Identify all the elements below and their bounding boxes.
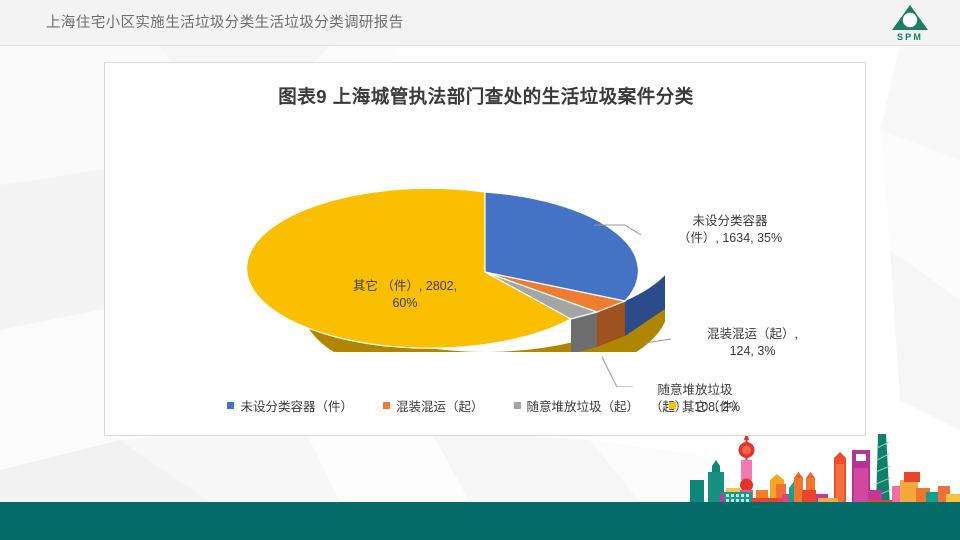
data-label-uncontainered: 未设分类容器 （件）, 1634, 35% [650,213,810,247]
chart-title: 图表9 上海城管执法部门查处的生活垃圾案件分类 [105,83,867,109]
legend-item-uncontainered[interactable]: 未设分类容器（件） [227,396,353,415]
logo-wordmark: SPM [882,32,938,42]
legend-swatch-mixed [383,402,390,409]
legend-swatch-uncontainered [227,402,234,409]
spm-triangle-icon [891,4,929,31]
legend-label-other: 其它（件） [682,396,745,415]
pie-chart: 未设分类容器 （件）, 1634, 35% 混装混运（起）, 124, 3% 随… [105,117,867,387]
legend-label-uncontainered: 未设分类容器（件） [240,396,353,415]
shanghai-skyline-illustration [690,428,960,506]
legend-label-dumping: 随意堆放垃圾（起） [527,396,640,415]
legend-swatch-other [669,402,676,409]
legend-item-dumping[interactable]: 随意堆放垃圾（起） [514,396,640,415]
legend-item-mixed[interactable]: 混装混运（起） [383,396,484,415]
chart-panel: 图表9 上海城管执法部门查处的生活垃圾案件分类 [104,62,866,436]
data-label-other: 其它 （件）, 2802, 60% [310,278,500,312]
chart-legend: 未设分类容器（件） 混装混运（起） 随意堆放垃圾（起） 其它（件） [105,396,867,415]
legend-item-other[interactable]: 其它（件） [669,396,745,415]
footer-bar [0,502,960,540]
skyline-svg [690,428,960,506]
legend-swatch-dumping [514,402,521,409]
legend-label-mixed: 混装混运（起） [396,396,484,415]
spm-logo: SPM [882,4,938,44]
page-title: 上海住宅小区实施生活垃圾分类生活垃圾分类调研报告 [46,0,404,46]
data-label-mixed: 混装混运（起）, 124, 3% [675,326,830,360]
